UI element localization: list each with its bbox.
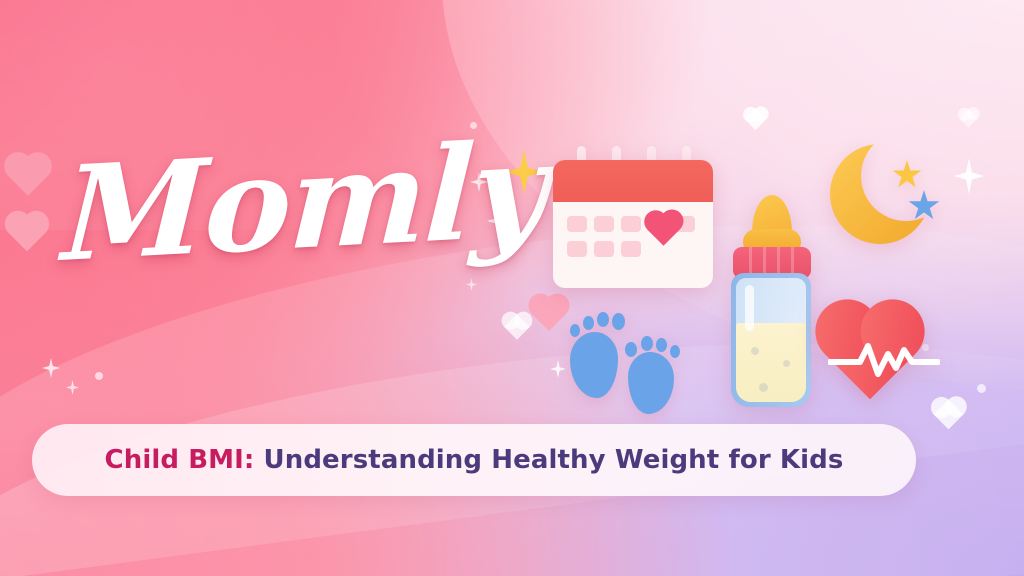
calendar-cell xyxy=(567,216,587,232)
crescent-moon-shape xyxy=(830,138,950,260)
sparkle-decoration xyxy=(466,278,477,291)
footprint-toe xyxy=(597,312,609,327)
heartbeat-line-icon xyxy=(828,328,940,388)
heart-decoration xyxy=(745,109,766,130)
crescent-moon-icon xyxy=(830,138,950,260)
footprint-toe xyxy=(583,316,594,330)
brand-logo: Momly xyxy=(60,124,549,280)
footprint-sole-right xyxy=(628,352,674,414)
dot-decoration xyxy=(95,372,103,380)
footprint-toe xyxy=(656,338,667,352)
bottle-bubble xyxy=(751,347,759,355)
bottle-highlight xyxy=(745,285,754,331)
footprint-toe xyxy=(570,324,580,337)
footprint-toe xyxy=(625,342,637,357)
sparkle-decoration xyxy=(42,358,60,378)
heart-decoration xyxy=(9,215,46,252)
footprint-toe xyxy=(641,336,653,351)
calendar-header xyxy=(553,160,713,202)
banner: Momly xyxy=(0,0,1024,576)
calendar-cell xyxy=(621,241,641,257)
heart-decoration xyxy=(8,156,48,196)
calendar-heart-icon xyxy=(553,146,713,288)
bottle-milk xyxy=(736,323,806,402)
calendar-cell xyxy=(594,241,614,257)
heart-decoration xyxy=(532,297,566,331)
heart-decoration xyxy=(959,109,977,127)
page-title-main: Understanding Healthy Weight for Kids xyxy=(254,445,843,475)
footprint-toe xyxy=(612,313,625,330)
footprint-toe xyxy=(670,345,680,358)
sparkle-decoration xyxy=(550,360,566,378)
bottle-bubble xyxy=(783,360,790,367)
baby-bottle-icon xyxy=(723,195,819,409)
baby-footprints-icon xyxy=(566,308,692,410)
calendar-cell xyxy=(567,241,587,257)
calendar-cell xyxy=(594,216,614,232)
heart-decoration xyxy=(504,314,529,339)
article-title-bar: Child BMI: Understanding Healthy Weight … xyxy=(32,424,916,496)
sparkle-decoration xyxy=(954,158,984,194)
calendar-cell xyxy=(621,216,641,232)
page-title: Child BMI: Understanding Healthy Weight … xyxy=(105,445,844,475)
footprint-sole-left xyxy=(570,332,618,398)
heartbeat-heart-icon xyxy=(820,300,948,416)
bottle-bubble xyxy=(759,383,768,392)
dot-decoration xyxy=(977,384,986,393)
sparkle-decoration xyxy=(66,380,79,395)
page-title-accent: Child BMI: xyxy=(105,445,255,475)
